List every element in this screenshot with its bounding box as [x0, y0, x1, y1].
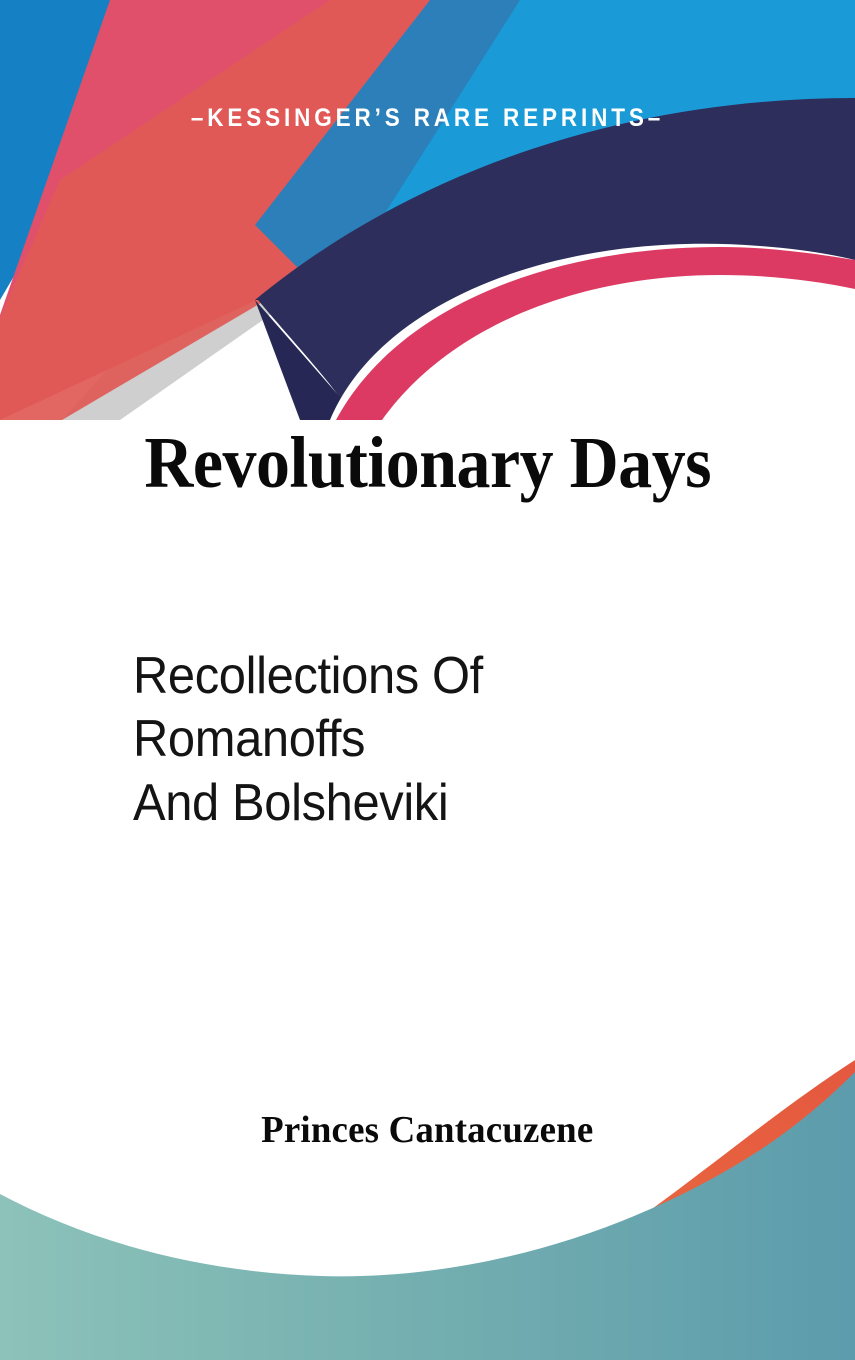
book-subtitle: Recollections Of Romanoffs And Bolshevik… — [0, 645, 855, 835]
book-author-text: Princes Cantacuzene — [261, 1108, 593, 1154]
bottom-decorative-artwork — [0, 1060, 855, 1360]
book-title-text: Revolutionary Days — [144, 424, 711, 503]
book-subtitle-line-2: And Bolsheviki — [133, 772, 708, 835]
book-author: Princes Cantacuzene — [0, 1108, 855, 1154]
book-cover: –KESSINGER’S RARE REPRINTS– Revolutionar… — [0, 0, 855, 1360]
book-title: Revolutionary Days — [0, 424, 855, 503]
top-decorative-artwork — [0, 0, 855, 420]
publisher-banner: –KESSINGER’S RARE REPRINTS– — [43, 104, 813, 133]
book-subtitle-line-1: Recollections Of Romanoffs — [133, 645, 708, 772]
